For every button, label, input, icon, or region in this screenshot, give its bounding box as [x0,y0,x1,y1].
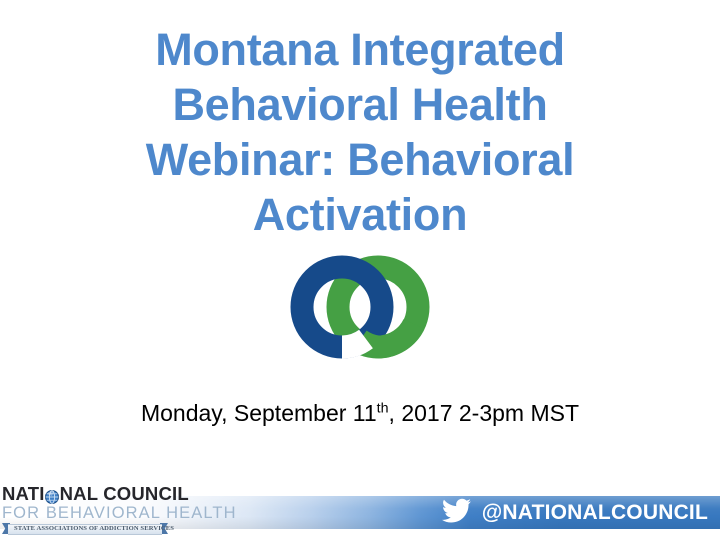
national-council-logo: NATI NAL COUNCIL FOR BEHAVIORAL HEALTH S… [2,484,174,534]
slide-title: Montana Integrated Behavioral Health Web… [60,22,660,242]
state-associations-ribbon: STATE ASSOCIATIONS OF ADDICTION SERVICES [2,523,170,534]
ribbon-label: STATE ASSOCIATIONS OF ADDICTION SERVICES [14,523,162,534]
webinar-datetime: Monday, September 11th, 2017 2-3pm MST [0,398,720,428]
logo-container [0,252,720,362]
national-council-tagline: FOR BEHAVIORAL HEALTH [2,504,174,522]
title-line-3: Webinar: Behavioral [60,132,660,187]
twitter-handle-group[interactable]: @NATIONALCOUNCIL [442,496,708,529]
date-ordinal-suffix: th [377,400,389,416]
date-suffix: , 2017 2-3pm MST [389,400,579,426]
interlocking-rings-logo [280,252,440,362]
date-prefix: Monday, September 11 [141,400,377,426]
national-council-wordmark: NATI NAL COUNCIL [2,484,174,503]
wordmark-part-1: NATI [2,484,45,503]
title-line-4: Activation [60,187,660,242]
title-line-2: Behavioral Health [60,77,660,132]
presentation-slide: Montana Integrated Behavioral Health Web… [0,0,720,540]
blue-ring-notch [342,339,366,347]
twitter-handle-label: @NATIONALCOUNCIL [482,501,708,524]
wordmark-part-2: NAL COUNCIL [60,484,189,503]
twitter-bird-icon [442,498,472,528]
globe-icon [45,488,59,502]
title-line-1: Montana Integrated [60,22,660,77]
